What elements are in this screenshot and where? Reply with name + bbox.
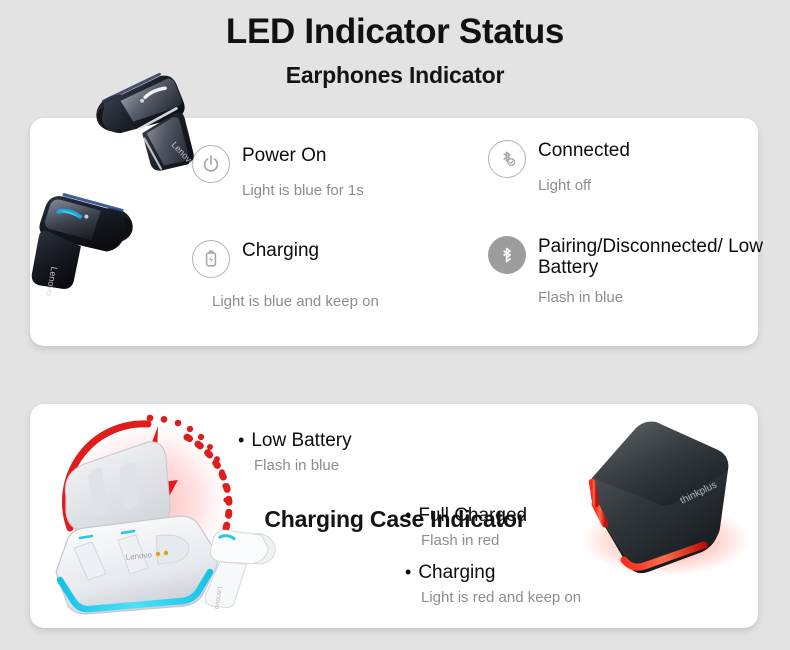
earbud-image-top: Lenovo bbox=[88, 72, 212, 190]
section-heading-charging-case: Charging Case Indicator bbox=[0, 506, 790, 533]
bullet-description: Flash in red bbox=[421, 532, 527, 549]
earbud-image-bottom: Lenovo bbox=[8, 188, 138, 308]
bluetooth-check-icon-wrapper bbox=[488, 140, 526, 178]
indicator-description: Light is blue for 1s bbox=[242, 182, 364, 199]
bullet-item-charging: Charging Light is red and keep on bbox=[405, 562, 581, 606]
bullet-description: Light is red and keep on bbox=[421, 589, 581, 606]
bullet-item-low-battery: Low Battery Flash in blue bbox=[238, 430, 352, 474]
bullet-title: Full Charged bbox=[405, 505, 527, 527]
indicator-title: Power On bbox=[242, 145, 326, 166]
bluetooth-check-icon bbox=[488, 140, 526, 178]
indicator-description: Flash in blue bbox=[538, 289, 623, 306]
led-indicator-infographic: LED Indicator Status Earphones Indicator bbox=[0, 0, 790, 650]
bullet-description: Flash in blue bbox=[254, 457, 352, 474]
bullet-title: Low Battery bbox=[238, 430, 352, 452]
charging-case-image-black: thinkplus bbox=[578, 412, 754, 592]
indicator-title: Pairing/Disconnected/ Low Battery bbox=[538, 236, 788, 278]
page-title: LED Indicator Status bbox=[0, 12, 790, 52]
indicator-title: Charging bbox=[242, 240, 319, 261]
bluetooth-icon-wrapper bbox=[488, 236, 526, 274]
bluetooth-icon bbox=[488, 236, 526, 274]
battery-charging-icon-wrapper bbox=[192, 240, 230, 278]
bullet-item-full-charged: Full Charged Flash in red bbox=[405, 505, 527, 549]
bullet-title: Charging bbox=[405, 562, 581, 584]
indicator-description: Light is blue and keep on bbox=[212, 293, 379, 310]
indicator-description: Light off bbox=[538, 177, 591, 194]
battery-charging-icon bbox=[192, 240, 230, 278]
indicator-title: Connected bbox=[538, 140, 630, 161]
